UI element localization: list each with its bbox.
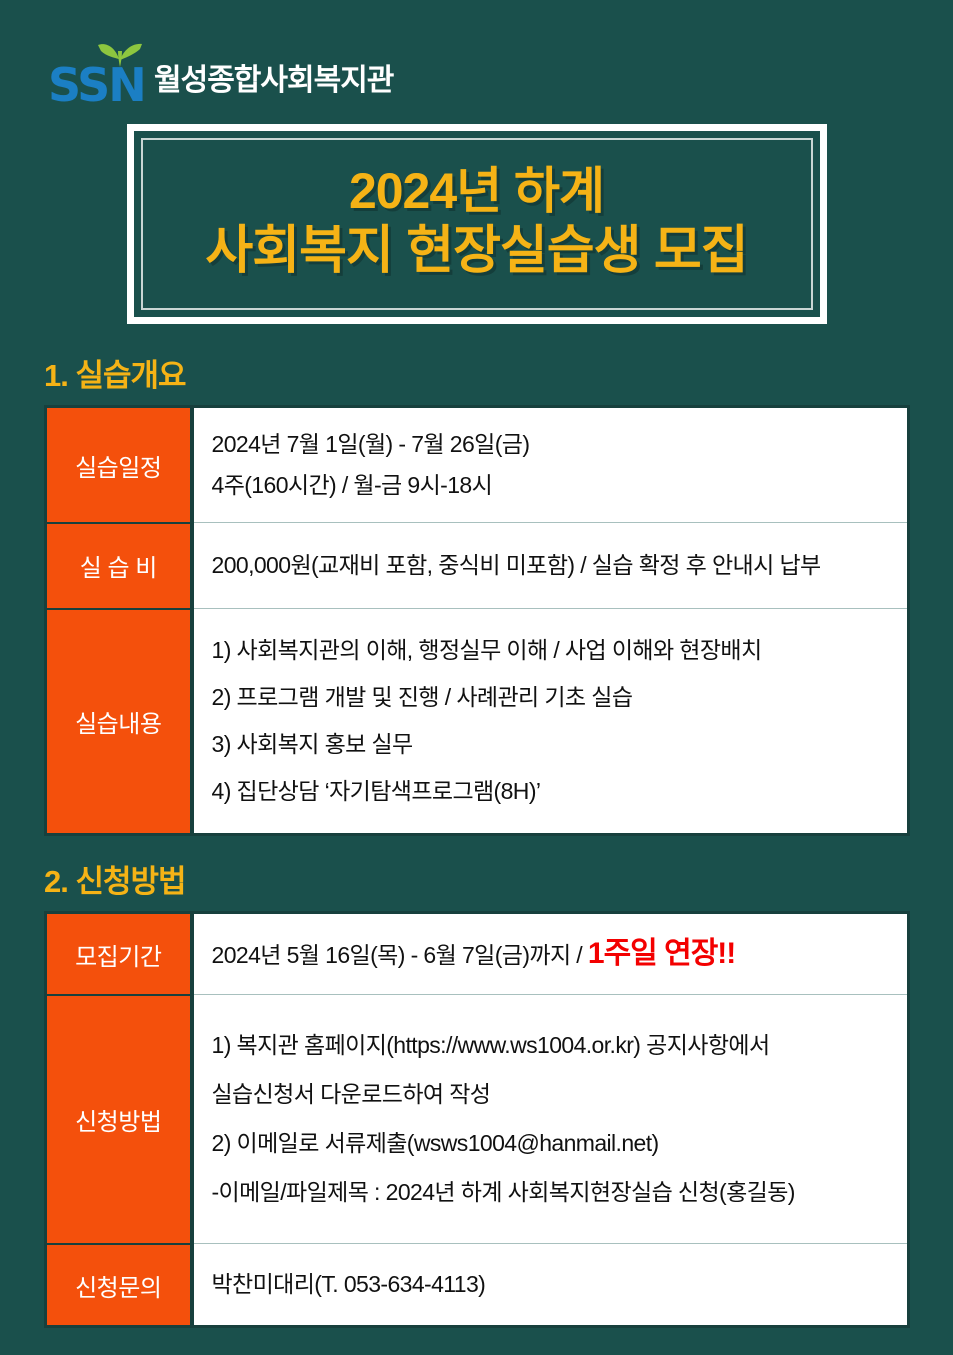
title-banner-inner: 2024년 하계 사회복지 현장실습생 모집 bbox=[141, 138, 813, 310]
period-line: 2024년 5월 16일(목) - 6월 7일(금)까지 / 1주일 연장!! bbox=[212, 930, 908, 978]
row-label-contents: 실습내용 bbox=[46, 609, 192, 835]
title-banner: 2024년 하계 사회복지 현장실습생 모집 bbox=[127, 124, 827, 324]
schedule-line-2: 4주(160시간) / 월-금 9시-18시 bbox=[212, 465, 908, 506]
row-content-schedule: 2024년 7월 1일(월) - 7월 26일(금) 4주(160시간) / 월… bbox=[192, 407, 909, 523]
howto-line-3: 2) 이메일로 서류제출(wsws1004@hanmail.net) bbox=[212, 1119, 908, 1168]
title-line-2: 사회복지 현장실습생 모집 bbox=[153, 221, 801, 282]
section-heading-apply: 2. 신청방법 bbox=[44, 856, 953, 901]
row-content-howto: 1) 복지관 홈페이지(https://www.ws1004.or.kr) 공지… bbox=[192, 995, 909, 1244]
fee-line-1: 200,000원(교재비 포함, 중식비 미포함) / 실습 확정 후 안내시 … bbox=[212, 545, 908, 586]
row-label-howto: 신청방법 bbox=[46, 995, 192, 1244]
schedule-line-1: 2024년 7월 1일(월) - 7월 26일(금) bbox=[212, 424, 908, 465]
page-header: SSN 월성종합사회복지관 bbox=[0, 0, 953, 112]
inquiry-line-1: 박찬미대리(T. 053-634-4113) bbox=[212, 1264, 908, 1305]
apply-table: 모집기간 2024년 5월 16일(목) - 6월 7일(금)까지 / 1주일 … bbox=[44, 911, 910, 1328]
table-row: 실 습 비 200,000원(교재비 포함, 중식비 미포함) / 실습 확정 … bbox=[46, 523, 909, 609]
row-label-inquiry: 신청문의 bbox=[46, 1244, 192, 1327]
howto-line-4: -이메일/파일제목 : 2024년 하계 사회복지현장실습 신청(홍길동) bbox=[212, 1168, 908, 1217]
section-heading-overview: 1. 실습개요 bbox=[44, 350, 953, 395]
table-row: 실습내용 1) 사회복지관의 이해, 행정실무 이해 / 사업 이해와 현장배치… bbox=[46, 609, 909, 835]
row-label-schedule: 실습일정 bbox=[46, 407, 192, 523]
howto-line-1: 1) 복지관 홈페이지(https://www.ws1004.or.kr) 공지… bbox=[212, 1021, 908, 1070]
contents-line-3: 3) 사회복지 홍보 실무 bbox=[212, 721, 908, 768]
row-content-period: 2024년 5월 16일(목) - 6월 7일(금)까지 / 1주일 연장!! bbox=[192, 913, 909, 995]
row-content-inquiry: 박찬미대리(T. 053-634-4113) bbox=[192, 1244, 909, 1327]
title-line-1: 2024년 하계 bbox=[153, 162, 801, 221]
contents-line-4: 4) 집단상담 ‘자기탐색프로그램(8H)’ bbox=[212, 768, 908, 815]
howto-line-2: 실습신청서 다운로드하여 작성 bbox=[212, 1070, 908, 1119]
table-row: 모집기간 2024년 5월 16일(목) - 6월 7일(금)까지 / 1주일 … bbox=[46, 913, 909, 995]
row-label-period: 모집기간 bbox=[46, 913, 192, 995]
row-content-fee: 200,000원(교재비 포함, 중식비 미포함) / 실습 확정 후 안내시 … bbox=[192, 523, 909, 609]
table-row: 실습일정 2024년 7월 1일(월) - 7월 26일(금) 4주(160시간… bbox=[46, 407, 909, 523]
period-extension-badge: 1주일 연장!! bbox=[588, 937, 735, 970]
row-label-fee: 실 습 비 bbox=[46, 523, 192, 609]
row-content-contents: 1) 사회복지관의 이해, 행정실무 이해 / 사업 이해와 현장배치 2) 프… bbox=[192, 609, 909, 835]
contents-line-1: 1) 사회복지관의 이해, 행정실무 이해 / 사업 이해와 현장배치 bbox=[212, 627, 908, 674]
contents-line-2: 2) 프로그램 개발 및 진행 / 사례관리 기초 실습 bbox=[212, 674, 908, 721]
overview-table: 실습일정 2024년 7월 1일(월) - 7월 26일(금) 4주(160시간… bbox=[44, 405, 910, 836]
logo-wordmark: SSN bbox=[48, 62, 145, 108]
ssn-logo: SSN bbox=[48, 44, 148, 106]
table-row: 신청문의 박찬미대리(T. 053-634-4113) bbox=[46, 1244, 909, 1327]
table-row: 신청방법 1) 복지관 홈페이지(https://www.ws1004.or.k… bbox=[46, 995, 909, 1244]
period-text: 2024년 5월 16일(목) - 6월 7일(금)까지 / bbox=[212, 942, 588, 968]
organization-name: 월성종합사회복지관 bbox=[154, 55, 393, 99]
